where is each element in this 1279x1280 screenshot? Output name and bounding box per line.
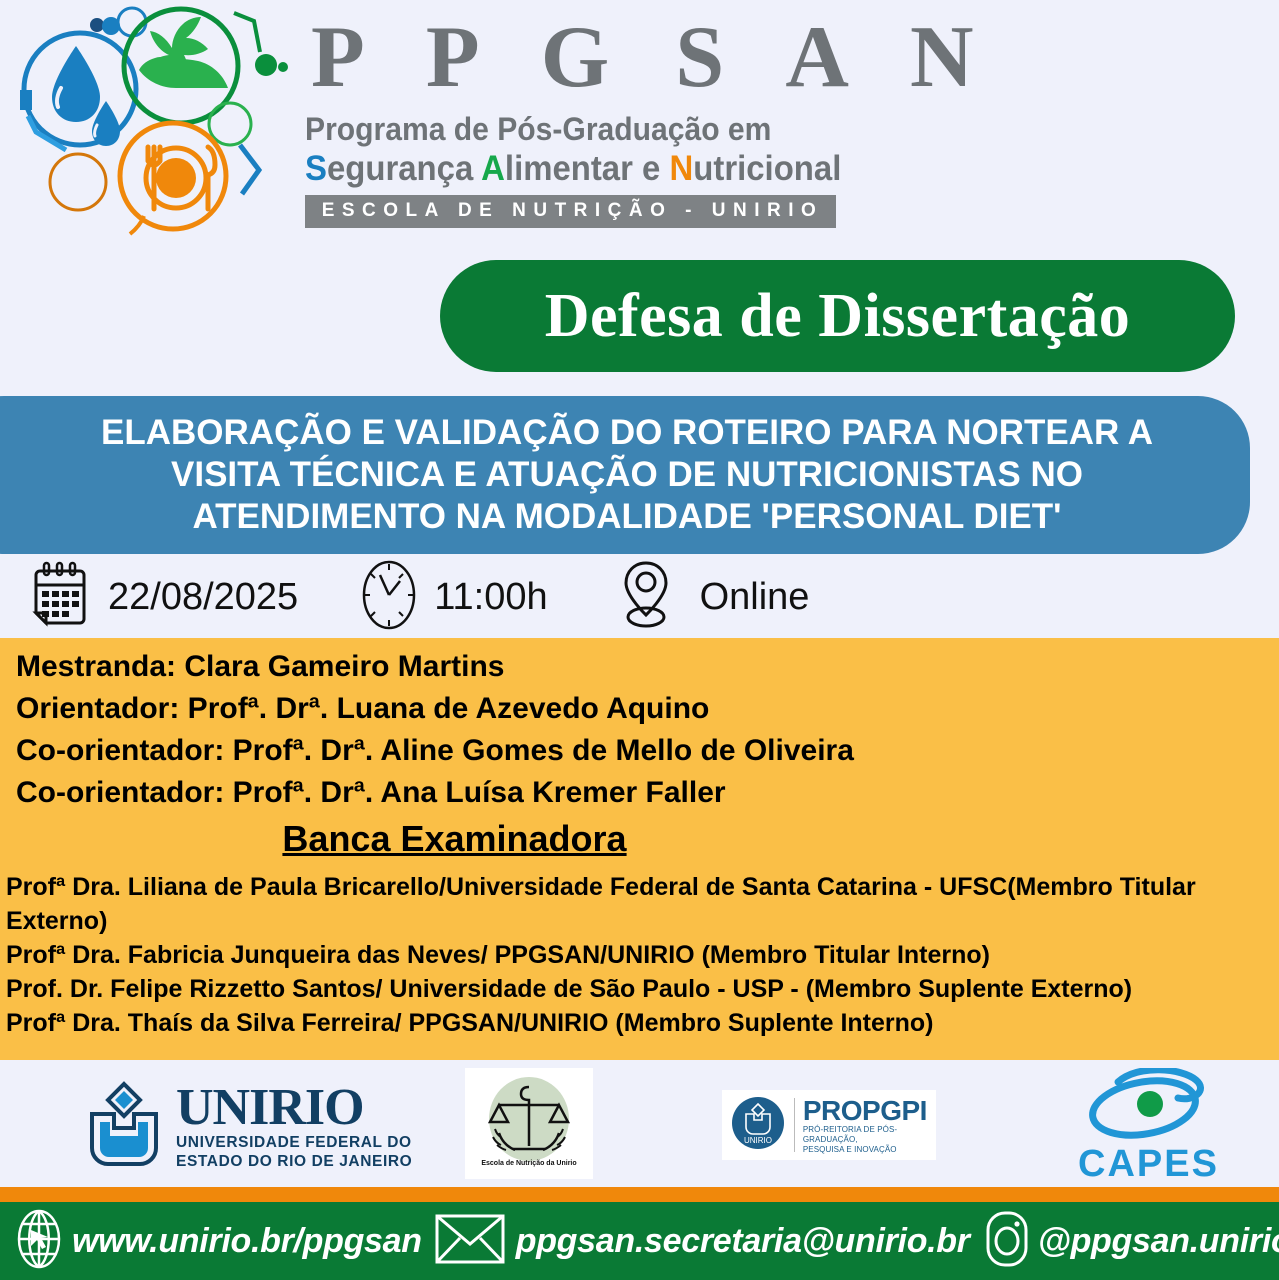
globe-icon bbox=[12, 1208, 66, 1275]
seg-initial-n: N bbox=[669, 149, 693, 188]
program-acronym: P P G S A N bbox=[305, 6, 850, 110]
unirio-wordmark: UNIRIO bbox=[176, 1083, 412, 1133]
instagram-group[interactable]: @ppgsan.unirio bbox=[980, 1208, 1279, 1275]
unirio-subtitle-line1: UNIVERSIDADE FEDERAL DO bbox=[176, 1133, 412, 1152]
event-date: 22/08/2025 bbox=[108, 576, 298, 619]
seal-label: Escola de Nutrição da Unirio bbox=[481, 1160, 576, 1167]
envelope-icon bbox=[432, 1211, 508, 1272]
participants-section: Mestranda: Clara Gameiro Martins Orienta… bbox=[0, 638, 1279, 1060]
propgpi-subtitle-line2: PESQUISA E INOVAÇÃO bbox=[803, 1145, 928, 1155]
email-address[interactable]: ppgsan.secretaria@unirio.br bbox=[516, 1222, 970, 1261]
map-pin-icon bbox=[618, 559, 674, 636]
program-name-line2: Segurança Alimentar e Nutricional bbox=[305, 148, 817, 190]
seg-initial-a: A bbox=[481, 149, 505, 188]
event-type-banner: Defesa de Dissertação bbox=[440, 260, 1235, 372]
contact-footer: www.unirio.br/ppgsan ppgsan.secretaria@u… bbox=[0, 1202, 1279, 1280]
committee-heading: Banca Examinadora bbox=[0, 818, 1279, 860]
event-details-row: 22/08/2025 11:00h Online bbox=[0, 556, 1279, 638]
list-item: Co-orientador: Profª. Drª. Ana Luísa Kre… bbox=[0, 772, 1279, 814]
propgpi-subtitle-line1: PRÓ-REITORIA DE PÓS-GRADUAÇÃO, bbox=[803, 1125, 928, 1145]
capes-logo-icon bbox=[1078, 1068, 1218, 1149]
propgpi-logo: UNIRIO PROPGPI PRÓ-REITORIA DE PÓS-GRADU… bbox=[722, 1090, 936, 1160]
unirio-crest-icon bbox=[78, 1078, 170, 1175]
propgpi-badge-label: UNIRIO bbox=[744, 1136, 772, 1145]
propgpi-wordmark: PROPGPI bbox=[803, 1096, 928, 1125]
orange-divider-strip bbox=[0, 1187, 1279, 1202]
seg-rest-3: utricional bbox=[693, 149, 841, 188]
website-url[interactable]: www.unirio.br/ppgsan bbox=[72, 1222, 422, 1261]
calendar-icon bbox=[26, 559, 92, 636]
program-name-line1: Programa de Pós-Graduação em bbox=[305, 110, 817, 148]
list-item: Mestranda: Clara Gameiro Martins bbox=[0, 646, 1279, 688]
seg-rest-2: limentar e bbox=[505, 149, 670, 188]
logo-text-block: P P G S A N Programa de Pós-Graduação em… bbox=[305, 6, 850, 228]
ppgsan-logo-icon bbox=[8, 4, 298, 244]
list-item: Orientador: Profª. Drª. Luana de Azevedo… bbox=[0, 688, 1279, 730]
committee-list: Profª Dra. Liliana de Paula Bricarello/U… bbox=[0, 870, 1279, 1040]
list-item: Prof. Dr. Felipe Rizzetto Santos/ Univer… bbox=[6, 972, 1273, 1006]
website-group[interactable]: www.unirio.br/ppgsan bbox=[12, 1208, 422, 1275]
seg-rest-1: egurança bbox=[327, 149, 481, 188]
school-bar: ESCOLA DE NUTRIÇÃO - UNIRIO bbox=[305, 195, 836, 228]
sponsor-logos-strip: UNIRIO UNIVERSIDADE FEDERAL DO ESTADO DO… bbox=[0, 1060, 1279, 1187]
email-group[interactable]: ppgsan.secretaria@unirio.br bbox=[432, 1211, 970, 1272]
event-title: ELABORAÇÃO E VALIDAÇÃO DO ROTEIRO PARA N… bbox=[6, 412, 1196, 538]
seg-initial-s: S bbox=[305, 149, 327, 188]
event-date-group: 22/08/2025 bbox=[26, 559, 298, 636]
instagram-handle[interactable]: @ppgsan.unirio bbox=[1038, 1222, 1279, 1261]
header: P P G S A N Programa de Pós-Graduação em… bbox=[0, 0, 1279, 248]
clock-icon bbox=[360, 559, 418, 636]
event-time: 11:00h bbox=[434, 576, 547, 619]
escola-nutricao-seal-icon: Escola de Nutrição da Unirio bbox=[477, 1071, 581, 1176]
escola-nutricao-logo: Escola de Nutrição da Unirio bbox=[465, 1068, 593, 1179]
list-item: Profª Dra. Fabricia Junqueira das Neves/… bbox=[6, 938, 1273, 972]
capes-logo: CAPES bbox=[1078, 1068, 1219, 1183]
propgpi-logo-icon: UNIRIO bbox=[730, 1095, 786, 1156]
list-item: Co-orientador: Profª. Drª. Aline Gomes d… bbox=[0, 730, 1279, 772]
event-title-banner: ELABORAÇÃO E VALIDAÇÃO DO ROTEIRO PARA N… bbox=[0, 396, 1250, 554]
list-item: Profª Dra. Liliana de Paula Bricarello/U… bbox=[6, 870, 1273, 938]
divider bbox=[794, 1098, 795, 1152]
capes-wordmark: CAPES bbox=[1078, 1145, 1219, 1183]
instagram-icon bbox=[980, 1208, 1034, 1275]
event-type-label: Defesa de Dissertação bbox=[545, 281, 1131, 352]
unirio-logo: UNIRIO UNIVERSIDADE FEDERAL DO ESTADO DO… bbox=[78, 1078, 412, 1175]
unirio-subtitle-line2: ESTADO DO RIO DE JANEIRO bbox=[176, 1152, 412, 1171]
event-time-group: 11:00h bbox=[360, 559, 547, 636]
list-item: Profª Dra. Thaís da Silva Ferreira/ PPGS… bbox=[6, 1006, 1273, 1040]
event-location: Online bbox=[700, 576, 810, 619]
event-location-group: Online bbox=[618, 559, 810, 636]
